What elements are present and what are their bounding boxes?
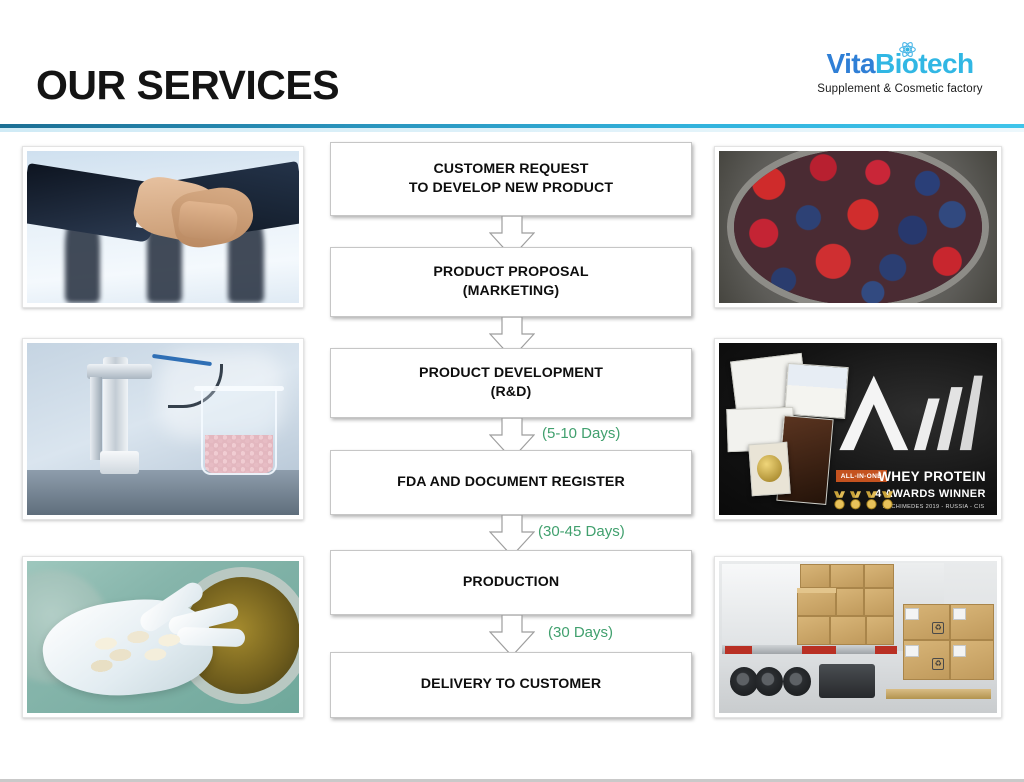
medal-icon: [881, 491, 894, 510]
medal-icon: [865, 491, 878, 510]
page-title: OUR SERVICES: [36, 62, 339, 109]
flow-step-label: DELIVERY TO CUSTOMER: [421, 675, 601, 694]
chevron-mountain-logo-icon: [836, 367, 986, 453]
atom-icon: [899, 41, 916, 58]
flow-step-production[interactable]: PRODUCTION: [330, 550, 692, 615]
flow-note-30-days: (30 Days): [548, 624, 613, 641]
flow-step-product-proposal[interactable]: PRODUCT PROPOSAL (MARKETING): [330, 247, 692, 317]
flow-step-label: PRODUCT PROPOSAL (MARKETING): [433, 263, 588, 301]
flow-arrow-down: [489, 615, 535, 657]
flow-step-label: PRODUCTION: [463, 573, 559, 592]
medal-icon: [833, 491, 846, 510]
brand-logo: VitaBiotech Supplement & Cosmetic factor…: [800, 50, 1000, 95]
flow-step-fda-document-register[interactable]: FDA AND DOCUMENT REGISTER: [330, 450, 692, 515]
award-medal-row: [833, 491, 894, 510]
photo-lab-equipment: [22, 338, 304, 520]
photo-delivery-truck: ♻ ♻: [714, 556, 1002, 718]
flow-step-label: FDA AND DOCUMENT REGISTER: [397, 473, 625, 492]
flow-step-product-development[interactable]: PRODUCT DEVELOPMENT (R&D): [330, 348, 692, 418]
process-flowchart: CUSTOMER REQUEST TO DEVELOP NEW PRODUCT …: [330, 142, 692, 720]
logo-text-vita: Vita: [827, 48, 875, 79]
logo-text-biotech: Biotech: [875, 48, 973, 79]
header-divider-glow: [0, 128, 1024, 132]
recycle-icon: ♻: [932, 622, 944, 634]
logo-wordmark: VitaBiotech: [827, 50, 974, 78]
flow-note-30-45-days: (30-45 Days): [538, 523, 625, 540]
flow-note-5-10-days: (5-10 Days): [542, 425, 620, 442]
photo-award: ALL-IN-ONE WHEY PROTEIN 4 AWARDS WINNER …: [714, 338, 1002, 520]
flow-step-label: PRODUCT DEVELOPMENT (R&D): [419, 364, 603, 402]
flow-step-customer-request[interactable]: CUSTOMER REQUEST TO DEVELOP NEW PRODUCT: [330, 142, 692, 216]
photo-capsules: [22, 556, 304, 718]
flow-step-delivery-to-customer[interactable]: DELIVERY TO CUSTOMER: [330, 652, 692, 718]
award-event-line: ARCHIMEDES 2019 - RUSSIA - CIS: [883, 504, 985, 510]
medal-icon: [849, 491, 862, 510]
photo-berries: [714, 146, 1002, 308]
recycle-icon: ♻: [932, 658, 944, 670]
flow-step-label: CUSTOMER REQUEST TO DEVELOP NEW PRODUCT: [409, 160, 613, 198]
award-product-name: WHEY PROTEIN: [878, 469, 986, 484]
photo-handshake: [22, 146, 304, 308]
logo-tagline: Supplement & Cosmetic factory: [800, 83, 1000, 95]
slide-header: OUR SERVICES VitaBiotech Supplement & Co…: [0, 0, 1024, 132]
